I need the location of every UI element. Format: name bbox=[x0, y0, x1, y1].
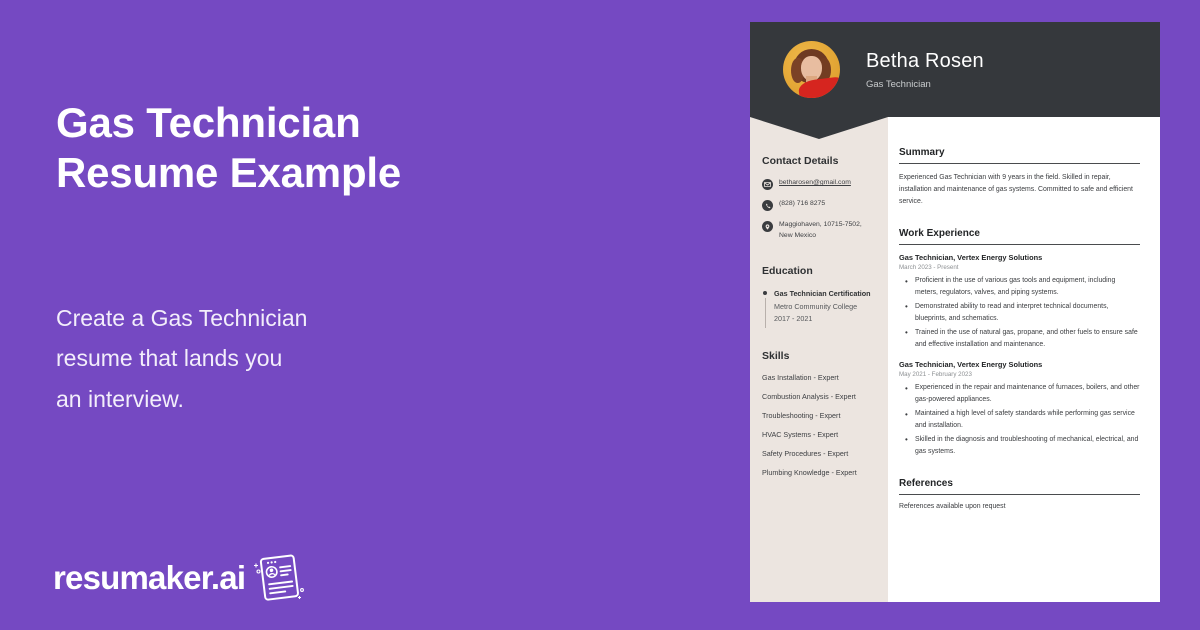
skill-item: Troubleshooting - Expert bbox=[762, 411, 875, 420]
education-degree: Gas Technician Certification bbox=[774, 289, 871, 298]
avatar bbox=[783, 41, 840, 98]
phone-icon bbox=[762, 200, 773, 211]
resume-header: Betha Rosen Gas Technician bbox=[750, 22, 1160, 117]
references-text: References available upon request bbox=[899, 503, 1140, 510]
resumaker-logo[interactable]: resumaker.ai bbox=[53, 552, 306, 604]
promo-subtitle: Create a Gas Technician resume that land… bbox=[56, 298, 476, 419]
references-heading: References bbox=[899, 478, 1140, 495]
skill-item: Safety Procedures - Expert bbox=[762, 449, 875, 458]
resume-main-column: Summary Experienced Gas Technician with … bbox=[888, 117, 1160, 602]
contact-email-text: betharosen@gmail.com bbox=[779, 178, 851, 189]
resume-role: Gas Technician bbox=[866, 79, 984, 90]
logo-wordmark: resumaker.ai bbox=[53, 559, 245, 597]
skill-item: Gas Installation - Expert bbox=[762, 373, 875, 382]
job-bullet: Maintained a high level of safety standa… bbox=[899, 408, 1140, 432]
envelope-icon bbox=[762, 179, 773, 190]
work-experience-entry: Gas Technician, Vertex Energy Solutions … bbox=[899, 253, 1140, 350]
promo-panel: Gas Technician Resume Example Create a G… bbox=[0, 0, 750, 630]
contact-address-text: Maggiohaven, 10715-7502, New Mexico bbox=[779, 220, 875, 241]
contact-item-phone[interactable]: (828) 716 8275 bbox=[762, 199, 875, 211]
contact-item-email[interactable]: betharosen@gmail.com bbox=[762, 178, 875, 190]
summary-heading: Summary bbox=[899, 147, 1140, 164]
skill-item: HVAC Systems - Expert bbox=[762, 430, 875, 439]
work-experience-entry: Gas Technician, Vertex Energy Solutions … bbox=[899, 360, 1140, 457]
job-bullet: Experienced in the repair and maintenanc… bbox=[899, 382, 1140, 406]
resume-name: Betha Rosen bbox=[866, 50, 984, 73]
job-bullet: Proficient in the use of various gas too… bbox=[899, 275, 1140, 299]
education-bullet-icon bbox=[762, 288, 774, 326]
job-dates: March 2023 - Present bbox=[899, 264, 1140, 271]
job-dates: May 2021 - February 2023 bbox=[899, 371, 1140, 378]
resume-preview-card[interactable]: Betha Rosen Gas Technician Contact Detai… bbox=[750, 22, 1160, 602]
skill-item: Combustion Analysis - Expert bbox=[762, 392, 875, 401]
education-dates: 2017 - 2021 bbox=[774, 314, 812, 323]
summary-text: Experienced Gas Technician with 9 years … bbox=[899, 172, 1140, 208]
header-notch bbox=[750, 117, 888, 139]
job-title: Gas Technician, Vertex Energy Solutions bbox=[899, 253, 1140, 262]
contact-details-heading: Contact Details bbox=[762, 155, 875, 167]
job-bullet: Trained in the use of natural gas, propa… bbox=[899, 327, 1140, 351]
education-school: Metro Community College bbox=[774, 302, 857, 311]
job-title: Gas Technician, Vertex Energy Solutions bbox=[899, 360, 1140, 369]
job-bullet: Skilled in the diagnosis and troubleshoo… bbox=[899, 434, 1140, 458]
education-heading: Education bbox=[762, 265, 875, 277]
resume-document-icon bbox=[250, 552, 306, 604]
contact-phone-text: (828) 716 8275 bbox=[779, 199, 825, 210]
skill-item: Plumbing Knowledge - Expert bbox=[762, 468, 875, 477]
skills-heading: Skills bbox=[762, 350, 875, 362]
education-item: Gas Technician Certification Metro Commu… bbox=[762, 288, 875, 326]
page-title: Gas Technician Resume Example bbox=[56, 98, 676, 199]
job-bullet: Demonstrated ability to read and interpr… bbox=[899, 301, 1140, 325]
work-experience-heading: Work Experience bbox=[899, 228, 1140, 245]
contact-item-address[interactable]: Maggiohaven, 10715-7502, New Mexico bbox=[762, 220, 875, 241]
location-pin-icon bbox=[762, 221, 773, 232]
resume-sidebar: Contact Details betharosen@gmail.com (82… bbox=[750, 117, 888, 602]
